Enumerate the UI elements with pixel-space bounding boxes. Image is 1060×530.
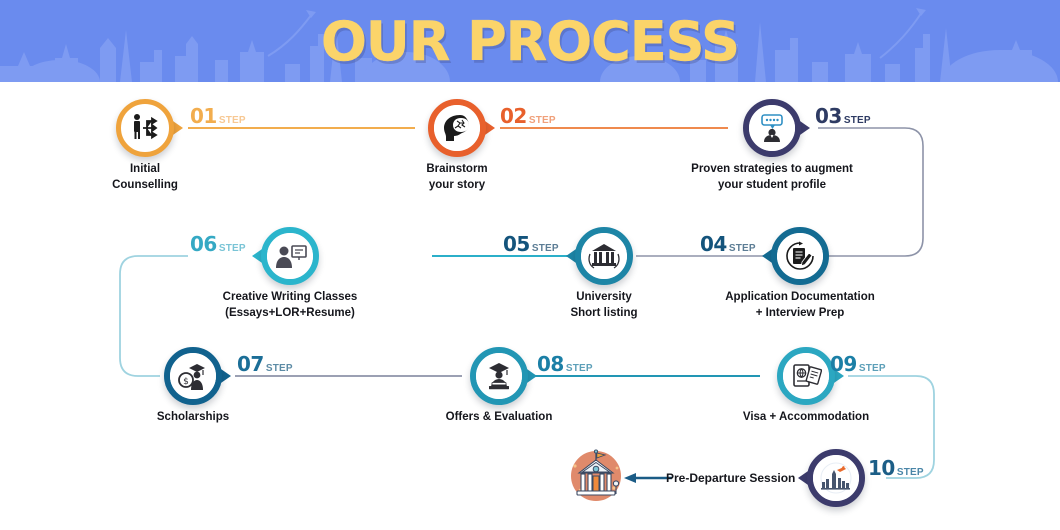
step-badge-09: 09 STEP [830, 352, 886, 376]
step-badge-07: 07 STEP [237, 352, 293, 376]
step-caption-01: Initial Counselling [25, 162, 265, 193]
step-number-09: 09 [830, 352, 857, 376]
step-ring-08 [470, 347, 528, 405]
head-brain-icon [440, 112, 474, 144]
page-header: OUR PROCESS [0, 0, 1060, 82]
step-badge-03: 03 STEP [815, 104, 871, 128]
step-ring-06 [261, 227, 319, 285]
step-caption-08: Offers & Evaluation [379, 410, 619, 426]
step-caption-02: Brainstorm your story [337, 162, 577, 193]
step-word-02: STEP [529, 115, 556, 126]
university-destination-icon [562, 444, 630, 517]
step-caption-03: Proven strategies to augment your studen… [622, 162, 922, 193]
step-caption-06: Creative Writing Classes (Essays+LOR+Res… [140, 290, 440, 321]
step-number-01: 01 [190, 104, 217, 128]
person-directions-icon [128, 111, 162, 145]
step-word-07: STEP [266, 363, 293, 374]
scholarship-money-graduate-icon: $ [177, 361, 209, 391]
step-ring-09 [777, 347, 835, 405]
step-number-07: 07 [237, 352, 264, 376]
step-word-08: STEP [566, 363, 593, 374]
step-number-08: 08 [537, 352, 564, 376]
step-number-06: 06 [190, 232, 217, 256]
step-badge-05: 05 STEP [503, 232, 559, 256]
step-number-05: 05 [503, 232, 530, 256]
university-building-icon [587, 241, 621, 271]
step-badge-08: 08 STEP [537, 352, 593, 376]
step-number-03: 03 [815, 104, 842, 128]
step-ring-07: $ [164, 347, 222, 405]
step-number-02: 02 [500, 104, 527, 128]
step-word-01: STEP [219, 115, 246, 126]
step-caption-07: Scholarships [73, 410, 313, 426]
passport-visa-icon [790, 361, 822, 391]
step-ring-10 [807, 449, 865, 507]
process-flow-canvas: Initial Counselling 01 STEP B [0, 82, 1060, 530]
step-badge-04: 04 STEP [700, 232, 756, 256]
page-title: OUR PROCESS [0, 0, 1060, 82]
step-badge-10: 10 STEP [868, 456, 924, 480]
step-ring-04 [771, 227, 829, 285]
step-badge-02: 02 STEP [500, 104, 556, 128]
step-word-09: STEP [859, 363, 886, 374]
svg-text:$: $ [183, 377, 189, 387]
document-pen-icon [784, 240, 816, 272]
person-speech-bubble-icon [755, 111, 789, 145]
step-number-04: 04 [700, 232, 727, 256]
pre-departure-label: Pre-Departure Session [666, 471, 795, 485]
graduate-offer-icon [483, 361, 515, 391]
step-word-04: STEP [729, 243, 756, 254]
presentation-teaching-icon [273, 241, 307, 271]
step-ring-03 [743, 99, 801, 157]
step-caption-05: University Short listing [484, 290, 724, 321]
step-ring-05 [575, 227, 633, 285]
step-word-06: STEP [219, 243, 246, 254]
step-word-10: STEP [897, 467, 924, 478]
step-number-10: 10 [868, 456, 895, 480]
skyline-airplane-icon [816, 462, 856, 494]
step-badge-06: 06 STEP [190, 232, 246, 256]
step-ring-02 [428, 99, 486, 157]
step-badge-01: 01 STEP [190, 104, 246, 128]
step-ring-01 [116, 99, 174, 157]
step-word-05: STEP [532, 243, 559, 254]
step-word-03: STEP [844, 115, 871, 126]
step-caption-09: Visa + Accommodation [676, 410, 936, 426]
